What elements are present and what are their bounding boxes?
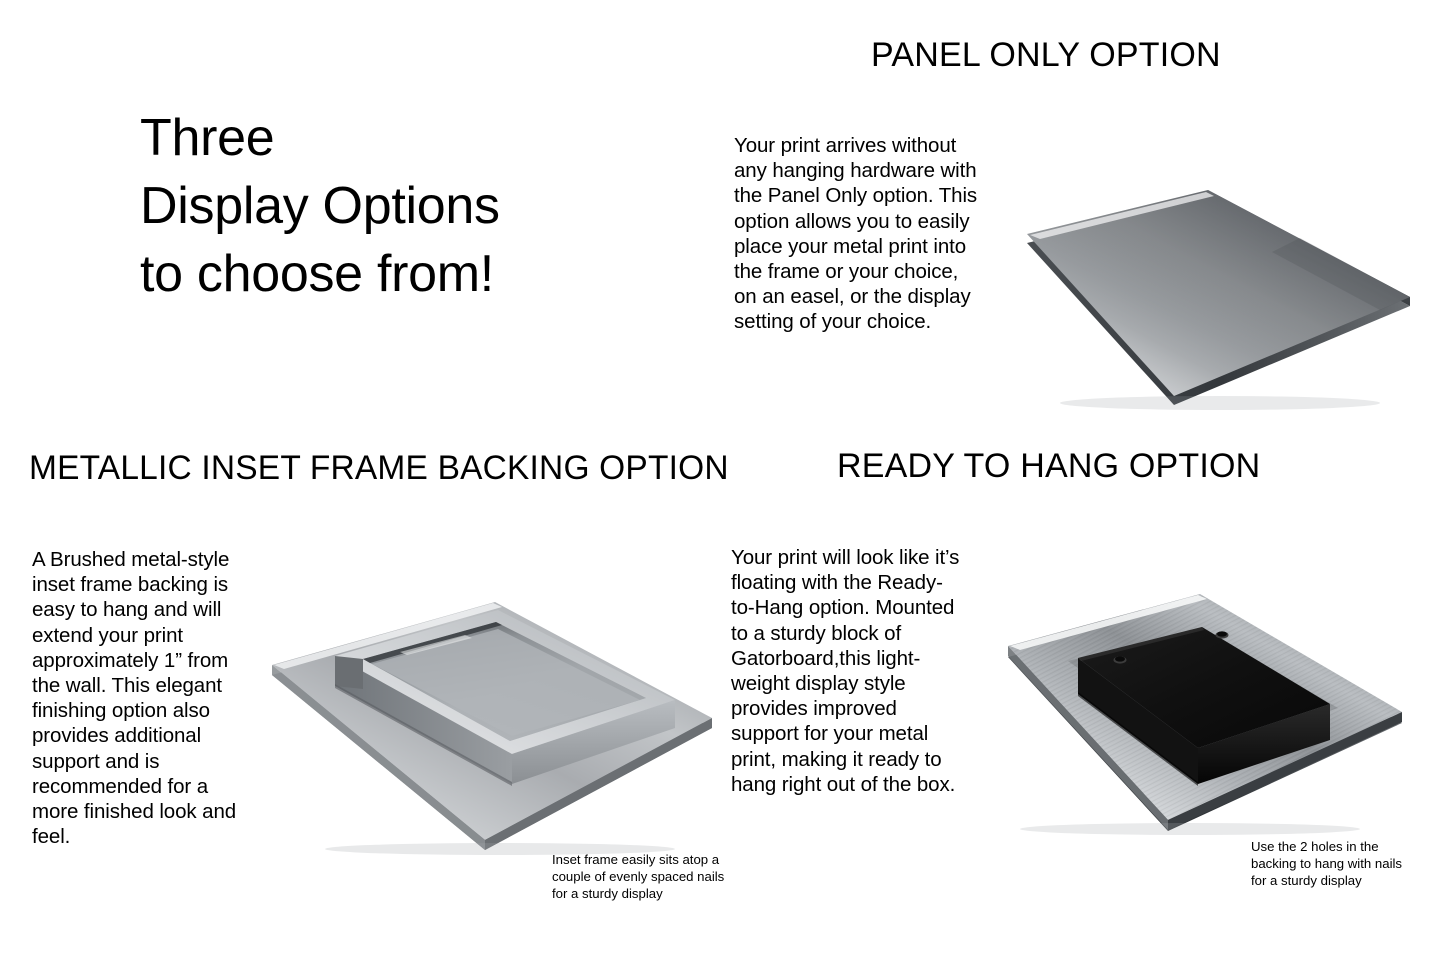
metal-panel-with-inset-frame-illustration [250,588,730,858]
section-heading-metallic-inset-frame: METALLIC INSET FRAME BACKING OPTION [29,449,729,487]
section-body-panel-only: Your print arrives without any hanging h… [734,133,979,335]
section-heading-ready-to-hang: READY TO HANG OPTION [837,447,1260,485]
flat-metal-panel-illustration [1000,160,1445,420]
infographic-canvas: Three Display Options to choose from! PA… [0,0,1445,963]
section-body-ready-to-hang: Your print will look like it’s floating … [731,545,966,797]
page-title: Three Display Options to choose from! [140,104,500,308]
section-heading-panel-only: PANEL ONLY OPTION [871,36,1221,74]
section-caption-ready-to-hang: Use the 2 holes in the backing to hang w… [1251,838,1431,889]
section-body-metallic-inset-frame: A Brushed metal-style inset frame backin… [32,547,247,849]
section-caption-metallic-inset-frame: Inset frame easily sits atop a couple of… [552,851,752,902]
brushed-panel-with-gatorboard-block-illustration [950,588,1420,843]
